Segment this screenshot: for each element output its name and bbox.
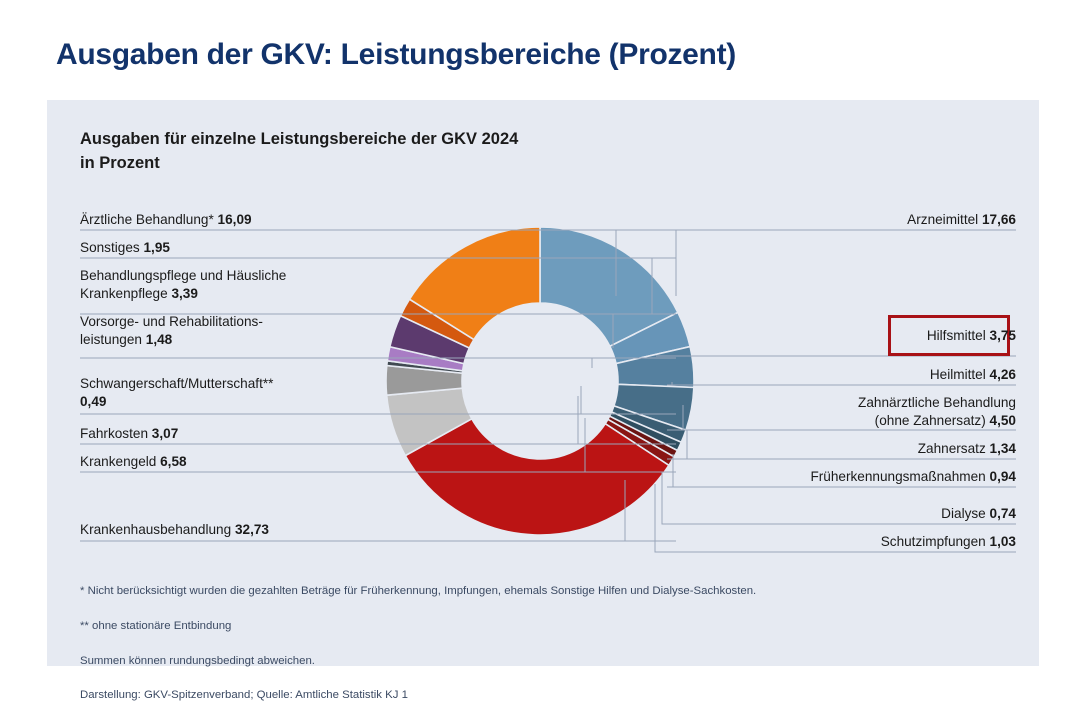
footnote-line-1: * Nicht berücksichtigt wurden die gezahl… <box>80 583 756 600</box>
footnotes: * Nicht berücksichtigt wurden die gezahl… <box>80 566 756 722</box>
label-sonstiges[interactable]: Sonstiges 1,95 <box>80 239 170 257</box>
chart-card: Ausgaben für einzelne Leistungsbereiche … <box>47 100 1039 666</box>
label-dialyse[interactable]: Dialyse 0,74 <box>941 505 1016 523</box>
label-value: 4,50 <box>990 413 1016 428</box>
label-name-cont: Krankenpflege <box>80 286 168 301</box>
label-value: 17,66 <box>982 212 1016 227</box>
label-value: 0,49 <box>80 394 106 409</box>
label-value: 3,75 <box>990 328 1016 343</box>
label-hilfsmittel[interactable]: Hilfsmittel 3,75 <box>927 327 1016 345</box>
label-arzneimittel[interactable]: Arzneimittel 17,66 <box>907 211 1016 229</box>
label-frueherkennungsmassnahmen[interactable]: Früherkennungsmaßnahmen 0,94 <box>810 468 1016 486</box>
label-vorsorge-reha[interactable]: Vorsorge- und Rehabilitations- leistunge… <box>80 313 370 348</box>
label-value: 4,26 <box>990 367 1016 382</box>
label-value: 1,95 <box>143 240 169 255</box>
label-aerztliche-behandlung[interactable]: Ärztliche Behandlung* 16,09 <box>80 211 252 229</box>
label-behandlungspflege[interactable]: Behandlungspflege und Häusliche Krankenp… <box>80 267 370 302</box>
label-value: 6,58 <box>160 454 186 469</box>
label-name: Krankenhausbehandlung <box>80 522 231 537</box>
label-name: Früherkennungsmaßnahmen <box>810 469 985 484</box>
label-value: 3,39 <box>171 286 197 301</box>
label-schwangerschaft[interactable]: Schwangerschaft/Mutterschaft** 0,49 <box>80 375 380 410</box>
label-name: Heilmittel <box>930 367 986 382</box>
label-name: Krankengeld <box>80 454 156 469</box>
footnote-line-3: Summen können rundungsbedingt abweichen. <box>80 653 756 670</box>
label-name: Zahnersatz <box>918 441 986 456</box>
label-name: Behandlungspflege und Häusliche <box>80 268 286 283</box>
label-zahnaerztliche-behandlung[interactable]: Zahnärztliche Behandlung (ohne Zahnersat… <box>858 394 1016 429</box>
label-name: Sonstiges <box>80 240 140 255</box>
label-name: Zahnärztliche Behandlung <box>858 395 1016 410</box>
label-value: 0,94 <box>990 469 1016 484</box>
footnote-line-2: ** ohne stationäre Entbindung <box>80 618 756 635</box>
label-zahnersatz[interactable]: Zahnersatz 1,34 <box>918 440 1016 458</box>
label-name: Arzneimittel <box>907 212 978 227</box>
label-value: 0,74 <box>990 506 1016 521</box>
label-name: Schutzimpfungen <box>881 534 986 549</box>
label-name: Ärztliche Behandlung* <box>80 212 214 227</box>
label-name-cont: leistungen <box>80 332 142 347</box>
label-schutzimpfungen[interactable]: Schutzimpfungen 1,03 <box>881 533 1016 551</box>
connector-line <box>80 358 592 368</box>
label-value: 1,34 <box>990 441 1016 456</box>
label-name-cont: (ohne Zahnersatz) <box>875 413 986 428</box>
label-heilmittel[interactable]: Heilmittel 4,26 <box>930 366 1016 384</box>
label-fahrkosten[interactable]: Fahrkosten 3,07 <box>80 425 178 443</box>
label-value: 1,03 <box>990 534 1016 549</box>
label-value: 1,48 <box>146 332 172 347</box>
label-name: Hilfsmittel <box>927 328 986 343</box>
page-title: Ausgaben der GKV: Leistungsbereiche (Pro… <box>56 38 736 72</box>
label-krankengeld[interactable]: Krankengeld 6,58 <box>80 453 187 471</box>
label-name: Fahrkosten <box>80 426 148 441</box>
label-name: Dialyse <box>941 506 986 521</box>
label-name: Schwangerschaft/Mutterschaft** <box>80 376 273 391</box>
label-value: 16,09 <box>218 212 252 227</box>
label-value: 32,73 <box>235 522 269 537</box>
label-name: Vorsorge- und Rehabilitations- <box>80 314 263 329</box>
label-value: 3,07 <box>152 426 178 441</box>
donut-segments <box>386 227 694 535</box>
label-krankenhausbehandlung[interactable]: Krankenhausbehandlung 32,73 <box>80 521 269 539</box>
